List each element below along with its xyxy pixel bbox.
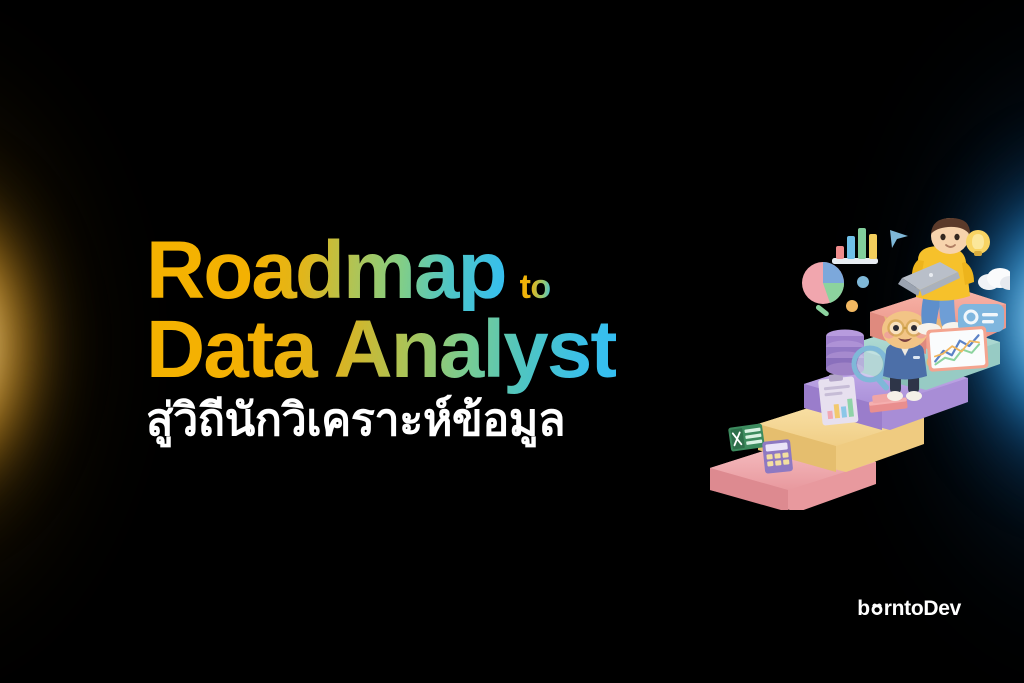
logo-text-after: rntoDev — [884, 597, 961, 621]
dash-green — [815, 304, 830, 317]
brand-logo[interactable]: b rntoDev — [857, 597, 961, 621]
title-line-2: Data Analyst — [146, 311, 706, 390]
line-graph-panel-icon — [926, 326, 989, 372]
headline-block: Roadmap to Data Analyst สู่วิถีนักวิเครา… — [146, 232, 706, 445]
title-roadmap: Roadmap — [146, 232, 506, 311]
subtitle-thai: สู่วิถีนักวิเคราะห์ข้อมูล — [146, 395, 706, 445]
title-line-1: Roadmap to — [146, 232, 706, 311]
left-glow-core — [0, 145, 75, 545]
lightbulb-icon — [966, 230, 990, 256]
dot-orange — [846, 300, 858, 312]
illustration-3d-stairs — [700, 200, 1010, 510]
dot-blue — [857, 276, 869, 288]
clipboard-report-icon — [818, 372, 859, 425]
spreadsheet-icon — [728, 423, 765, 451]
calculator-icon — [762, 439, 793, 474]
title-to: to — [520, 271, 551, 304]
title-data-analyst: Data Analyst — [146, 304, 616, 395]
cursor-arrow-icon — [890, 230, 908, 248]
borntodev-mascot-o-icon — [870, 602, 884, 616]
pie-chart-icon — [802, 262, 844, 304]
left-glow-outer — [0, 15, 130, 675]
cloud-icon — [978, 268, 1010, 290]
logo-text-before: b — [857, 597, 870, 621]
bar-chart-icon — [832, 228, 878, 264]
poster-canvas: Roadmap to Data Analyst สู่วิถีนักวิเครา… — [0, 0, 1024, 683]
